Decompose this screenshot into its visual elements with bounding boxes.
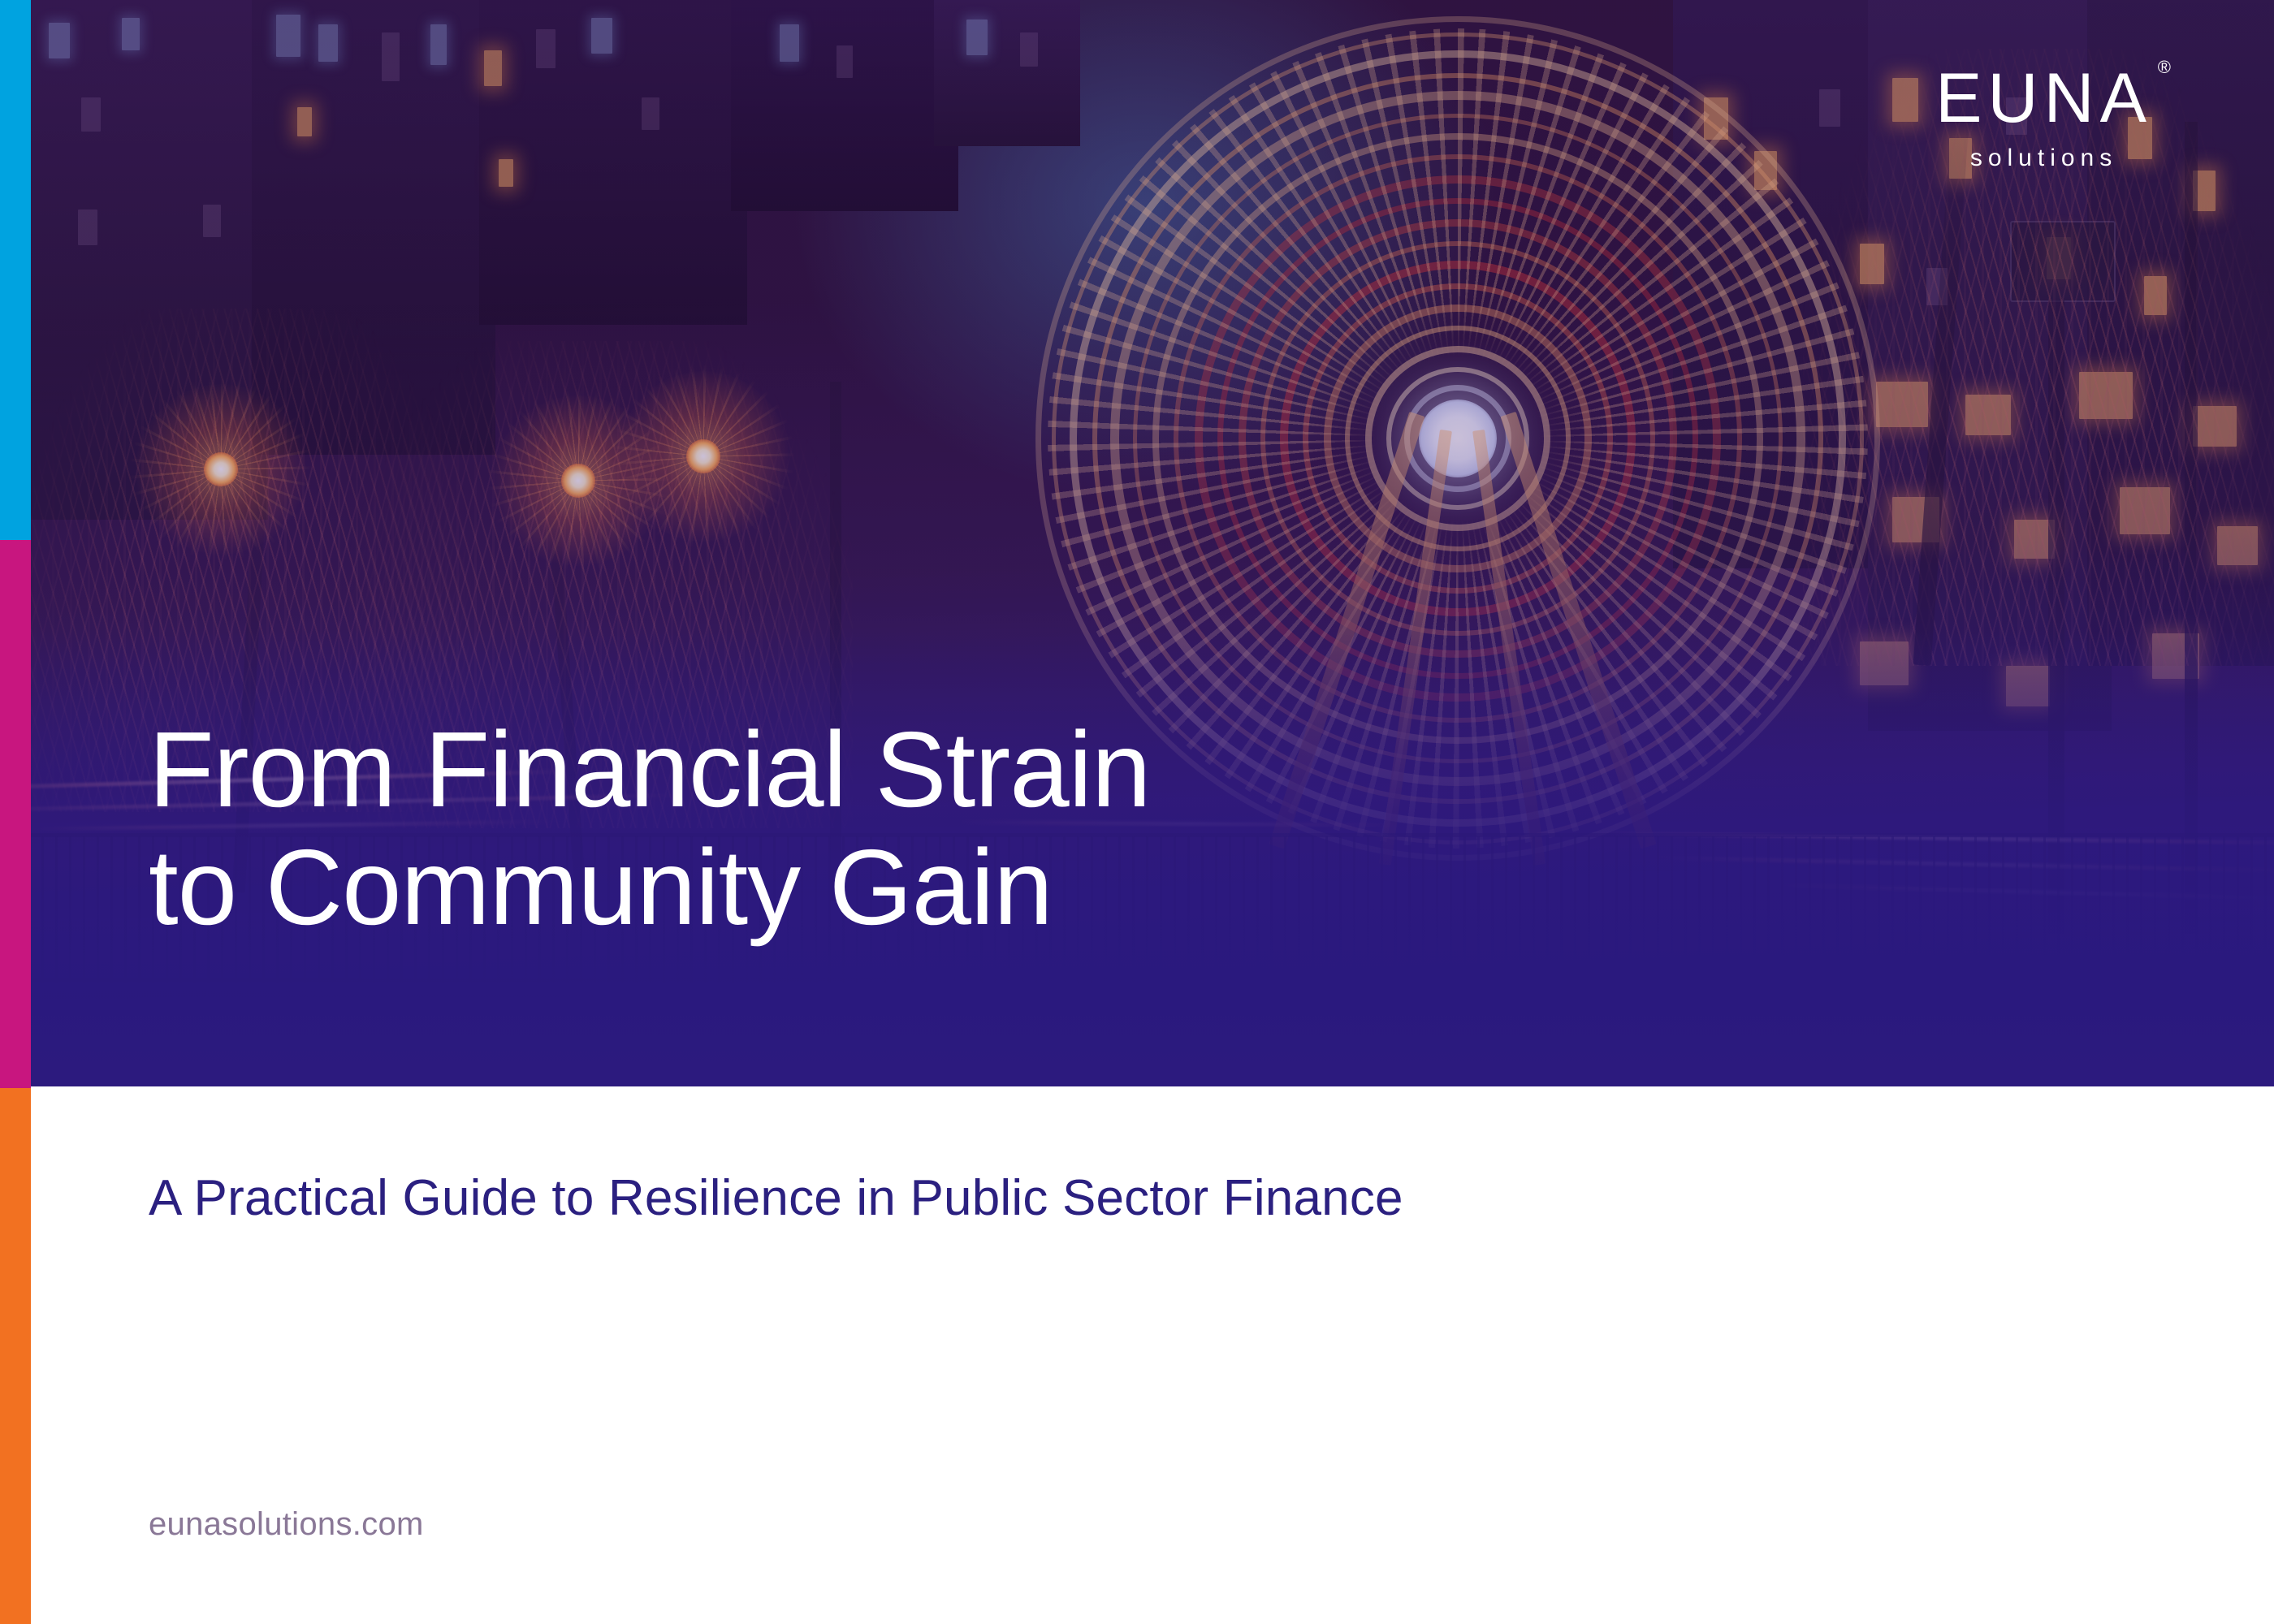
left-accent-bar — [0, 0, 31, 1624]
cover-subtitle: A Practical Guide to Resilience in Publi… — [149, 1169, 1403, 1227]
accent-segment-magenta — [0, 540, 31, 1088]
cover-page: EUNA ® solutions From Financial Strain t… — [0, 0, 2274, 1624]
cover-title: From Financial Strain to Community Gain — [149, 710, 1150, 946]
accent-segment-orange — [0, 1088, 31, 1624]
footer-website-url[interactable]: eunasolutions.com — [149, 1506, 424, 1543]
title-line-1: From Financial Strain — [149, 710, 1150, 828]
logo-wordmark-container: EUNA ® — [1935, 63, 2152, 133]
title-line-2: to Community Gain — [149, 828, 1150, 946]
euna-logo: EUNA ® solutions — [1935, 63, 2152, 172]
accent-segment-cyan — [0, 0, 31, 540]
logo-wordmark: EUNA — [1935, 59, 2152, 137]
registered-trademark-icon: ® — [2158, 58, 2177, 76]
logo-tagline: solutions — [1935, 145, 2152, 172]
